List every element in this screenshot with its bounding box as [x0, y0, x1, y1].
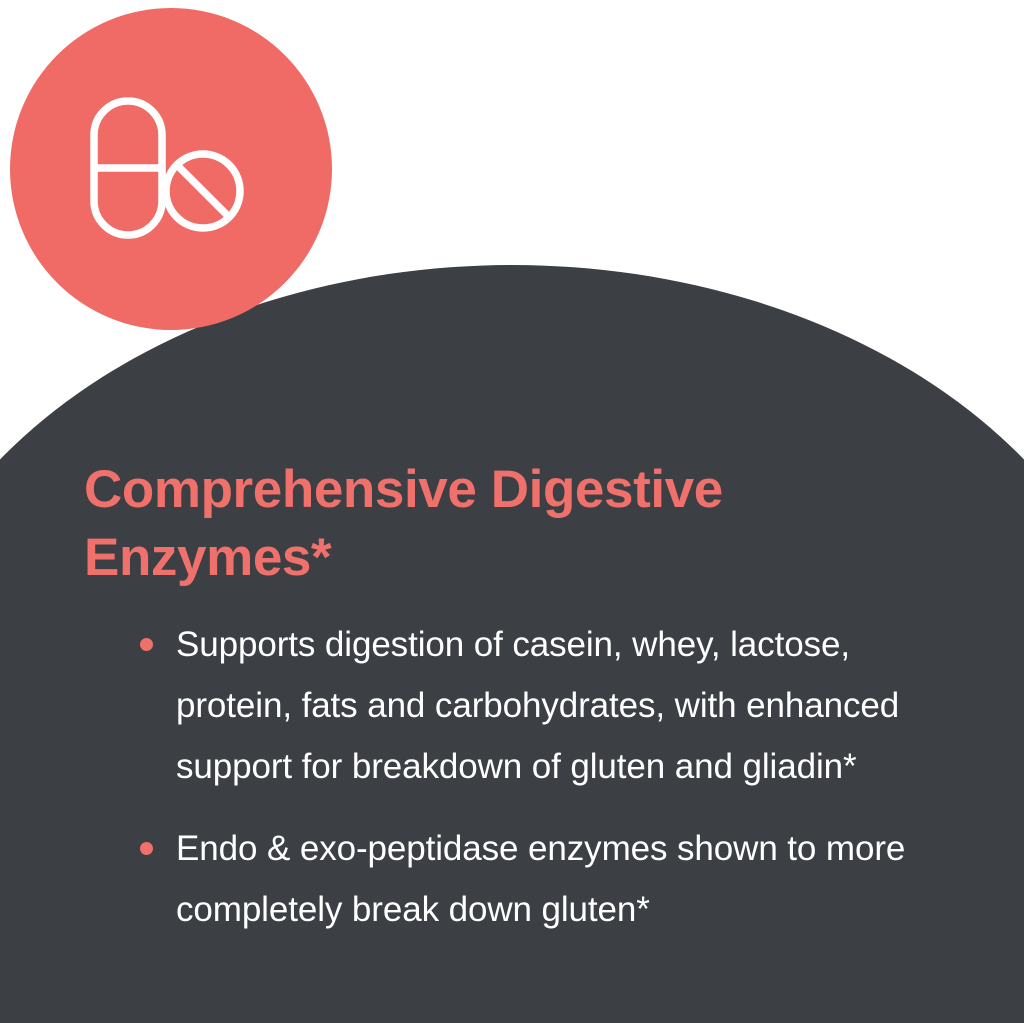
list-item: Supports digestion of casein, whey, lact… — [140, 614, 970, 797]
content-area: Comprehensive Digestive Enzymes* Support… — [0, 0, 1024, 1023]
list-item-label: Supports digestion of casein, whey, lact… — [176, 614, 970, 797]
list-item: Endo & exo-peptidase enzymes shown to mo… — [140, 818, 970, 940]
list-item-label: Endo & exo-peptidase enzymes shown to mo… — [176, 818, 970, 940]
benefit-list: Supports digestion of casein, whey, lact… — [140, 614, 970, 961]
page-title: Comprehensive Digestive Enzymes* — [84, 456, 944, 592]
bullet-dot-icon — [140, 842, 153, 855]
bullet-dot-icon — [140, 638, 153, 651]
product-benefit-card: Comprehensive Digestive Enzymes* Support… — [0, 0, 1024, 1023]
